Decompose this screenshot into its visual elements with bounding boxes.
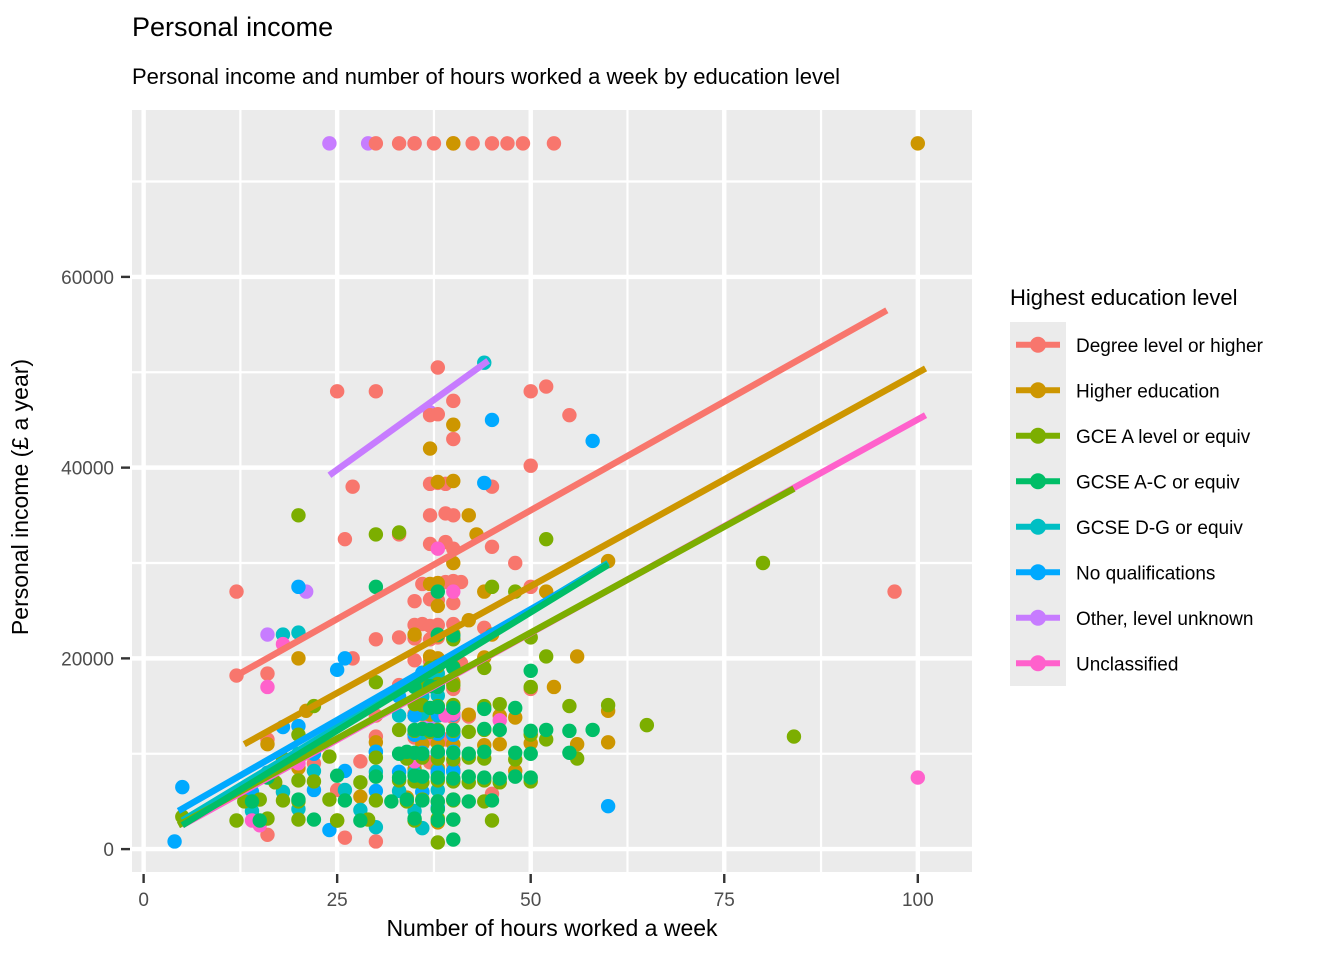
- data-point: [516, 136, 530, 150]
- data-point: [465, 136, 479, 150]
- y-tick-label: 0: [103, 840, 114, 861]
- data-point: [493, 737, 507, 751]
- data-point: [431, 407, 445, 421]
- data-point: [392, 136, 406, 150]
- legend-point-swatch: [1030, 610, 1046, 626]
- data-point: [291, 812, 305, 826]
- chart-subtitle: Personal income and number of hours work…: [132, 64, 840, 89]
- data-point: [508, 701, 522, 715]
- data-point: [446, 474, 460, 488]
- legend-item-label: GCSE D-G or equiv: [1076, 518, 1243, 539]
- data-point: [407, 811, 421, 825]
- data-point: [562, 746, 576, 760]
- data-point: [493, 771, 507, 785]
- data-point: [338, 793, 352, 807]
- data-point: [431, 360, 445, 374]
- legend-point-swatch: [1030, 428, 1046, 444]
- data-point: [446, 746, 460, 760]
- data-point: [446, 432, 460, 446]
- data-point: [322, 749, 336, 763]
- data-point: [508, 746, 522, 760]
- data-point: [291, 580, 305, 594]
- legend-point-swatch: [1030, 382, 1046, 398]
- data-point: [524, 747, 538, 761]
- data-point: [322, 136, 336, 150]
- data-point: [585, 723, 599, 737]
- data-point: [260, 627, 274, 641]
- data-point: [353, 754, 367, 768]
- data-point: [508, 556, 522, 570]
- panel-rect: [132, 110, 972, 872]
- data-point: [524, 664, 538, 678]
- legend-item-label: Unclassified: [1076, 654, 1178, 675]
- data-point: [431, 599, 445, 613]
- data-point: [640, 718, 654, 732]
- data-point: [485, 793, 499, 807]
- data-point: [415, 793, 429, 807]
- data-point: [392, 630, 406, 644]
- legend-item-label: No qualifications: [1076, 563, 1215, 584]
- data-point: [446, 792, 460, 806]
- data-point: [260, 666, 274, 680]
- scatter-plot: Personal income Personal income and numb…: [0, 0, 1344, 960]
- data-point: [369, 632, 383, 646]
- data-point: [353, 789, 367, 803]
- data-point: [291, 773, 305, 787]
- data-point: [562, 699, 576, 713]
- x-axis-title: Number of hours worked a week: [386, 915, 718, 941]
- data-point: [369, 769, 383, 783]
- data-point: [477, 476, 491, 490]
- data-point: [756, 556, 770, 570]
- data-point: [369, 793, 383, 807]
- data-point: [330, 663, 344, 677]
- data-point: [345, 480, 359, 494]
- data-point: [911, 136, 925, 150]
- data-point: [392, 770, 406, 784]
- data-point: [539, 649, 553, 663]
- data-point: [307, 774, 321, 788]
- data-point: [446, 418, 460, 432]
- data-point: [601, 698, 615, 712]
- data-point: [547, 136, 561, 150]
- data-point: [431, 770, 445, 784]
- data-point: [787, 729, 801, 743]
- data-point: [431, 542, 445, 556]
- data-point: [353, 775, 367, 789]
- data-point: [260, 680, 274, 694]
- data-point: [175, 780, 189, 794]
- data-point: [431, 700, 445, 714]
- data-point: [462, 747, 476, 761]
- data-point: [524, 384, 538, 398]
- data-point: [400, 792, 414, 806]
- legend-point-swatch: [1030, 655, 1046, 671]
- data-point: [307, 812, 321, 826]
- data-point: [291, 651, 305, 665]
- data-point: [524, 680, 538, 694]
- data-point: [369, 750, 383, 764]
- legend-item-label: GCSE A-C or equiv: [1076, 472, 1240, 493]
- data-point: [570, 649, 584, 663]
- data-point: [477, 770, 491, 784]
- x-tick-label: 100: [902, 890, 934, 911]
- data-point: [462, 794, 476, 808]
- legend-item-label: Other, level unknown: [1076, 609, 1253, 630]
- data-point: [431, 745, 445, 759]
- data-point: [384, 794, 398, 808]
- data-point: [369, 136, 383, 150]
- data-point: [431, 724, 445, 738]
- y-tick-label: 40000: [61, 459, 114, 480]
- data-point: [353, 813, 367, 827]
- x-tick-label: 25: [327, 890, 348, 911]
- data-point: [338, 532, 352, 546]
- data-point: [431, 835, 445, 849]
- data-point: [477, 702, 491, 716]
- data-point: [431, 475, 445, 489]
- data-point: [446, 832, 460, 846]
- data-point: [524, 459, 538, 473]
- data-point: [407, 627, 421, 641]
- data-point: [291, 508, 305, 522]
- data-point: [446, 812, 460, 826]
- legend-point-swatch: [1030, 473, 1046, 489]
- data-point: [369, 834, 383, 848]
- data-point: [462, 769, 476, 783]
- data-point: [415, 769, 429, 783]
- data-point: [446, 394, 460, 408]
- data-point: [485, 540, 499, 554]
- data-point: [539, 379, 553, 393]
- data-point: [446, 771, 460, 785]
- data-point: [229, 813, 243, 827]
- legend-point-swatch: [1030, 519, 1046, 535]
- data-point: [539, 723, 553, 737]
- x-tick-label: 50: [520, 890, 541, 911]
- data-point: [276, 793, 290, 807]
- data-point: [407, 594, 421, 608]
- data-point: [392, 723, 406, 737]
- x-tick-label: 0: [138, 890, 149, 911]
- legend-item-label: Higher education: [1076, 381, 1220, 402]
- data-point: [446, 136, 460, 150]
- data-point: [369, 527, 383, 541]
- y-tick-label: 60000: [61, 268, 114, 289]
- data-point: [431, 584, 445, 598]
- data-point: [585, 434, 599, 448]
- data-point: [392, 525, 406, 539]
- data-point: [601, 735, 615, 749]
- data-point: [524, 724, 538, 738]
- data-point: [462, 725, 476, 739]
- data-point: [427, 136, 441, 150]
- data-point: [446, 508, 460, 522]
- data-point: [338, 830, 352, 844]
- data-point: [493, 697, 507, 711]
- data-point: [485, 813, 499, 827]
- data-point: [245, 794, 259, 808]
- plot-panel: [132, 110, 972, 872]
- y-axis-title: Personal income (£ a year): [7, 359, 33, 635]
- data-point: [253, 813, 267, 827]
- data-point: [167, 834, 181, 848]
- data-point: [415, 747, 429, 761]
- legend-key-background: [1010, 322, 1066, 686]
- x-tick-label: 75: [714, 890, 735, 911]
- data-point: [485, 580, 499, 594]
- data-point: [485, 413, 499, 427]
- data-point: [500, 136, 514, 150]
- data-point: [562, 724, 576, 738]
- data-point: [493, 723, 507, 737]
- legend-item-label: GCE A level or equiv: [1076, 427, 1251, 448]
- data-point: [423, 441, 437, 455]
- data-point: [446, 584, 460, 598]
- data-point: [330, 813, 344, 827]
- data-point: [547, 680, 561, 694]
- data-point: [539, 532, 553, 546]
- data-point: [562, 408, 576, 422]
- data-point: [229, 584, 243, 598]
- data-point: [462, 707, 476, 721]
- data-point: [911, 770, 925, 784]
- data-point: [446, 701, 460, 715]
- legend-item-label: Degree level or higher: [1076, 336, 1264, 357]
- data-point: [485, 136, 499, 150]
- data-point: [601, 799, 615, 813]
- data-point: [431, 802, 445, 816]
- data-point: [291, 792, 305, 806]
- data-point: [423, 508, 437, 522]
- data-point: [446, 723, 460, 737]
- data-point: [462, 508, 476, 522]
- data-point: [322, 792, 336, 806]
- y-tick-label: 20000: [61, 649, 114, 670]
- data-point: [477, 722, 491, 736]
- data-point: [330, 384, 344, 398]
- chart-container: Personal income Personal income and numb…: [0, 0, 1344, 960]
- data-point: [407, 136, 421, 150]
- data-point: [477, 745, 491, 759]
- page-title: Personal income: [132, 12, 333, 42]
- data-point: [887, 584, 901, 598]
- data-point: [524, 770, 538, 784]
- legend-point-swatch: [1030, 564, 1046, 580]
- data-point: [330, 768, 344, 782]
- data-point: [369, 384, 383, 398]
- legend-title: Highest education level: [1010, 285, 1237, 310]
- data-point: [508, 769, 522, 783]
- legend-point-swatch: [1030, 337, 1046, 353]
- data-point: [260, 737, 274, 751]
